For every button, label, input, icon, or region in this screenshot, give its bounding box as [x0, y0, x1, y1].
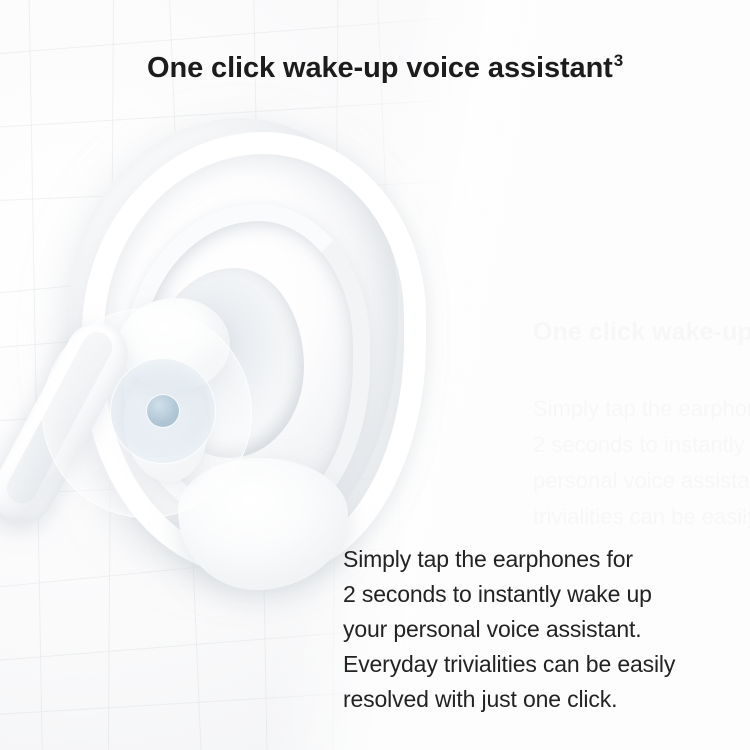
body-copy: Simply tap the earphones for 2 seconds t… — [343, 542, 733, 717]
body-copy-line: your personal voice assistant. — [343, 612, 733, 647]
body-copy-line: 2 seconds to instantly wake up — [343, 577, 733, 612]
product-feature-slide: One click wake-up Simply tap the earphon… — [0, 0, 750, 750]
body-copy-line: Everyday trivialities can be easily — [343, 647, 733, 682]
footnote-marker: 3 — [614, 51, 623, 70]
body-copy-line: resolved with just one click. — [343, 682, 733, 717]
tap-point-indicator — [146, 394, 180, 428]
page-title: One click wake-up voice assistant3 — [147, 52, 623, 85]
body-copy-line: Simply tap the earphones for — [343, 542, 733, 577]
page-title-text: One click wake-up voice assistant — [147, 52, 613, 84]
